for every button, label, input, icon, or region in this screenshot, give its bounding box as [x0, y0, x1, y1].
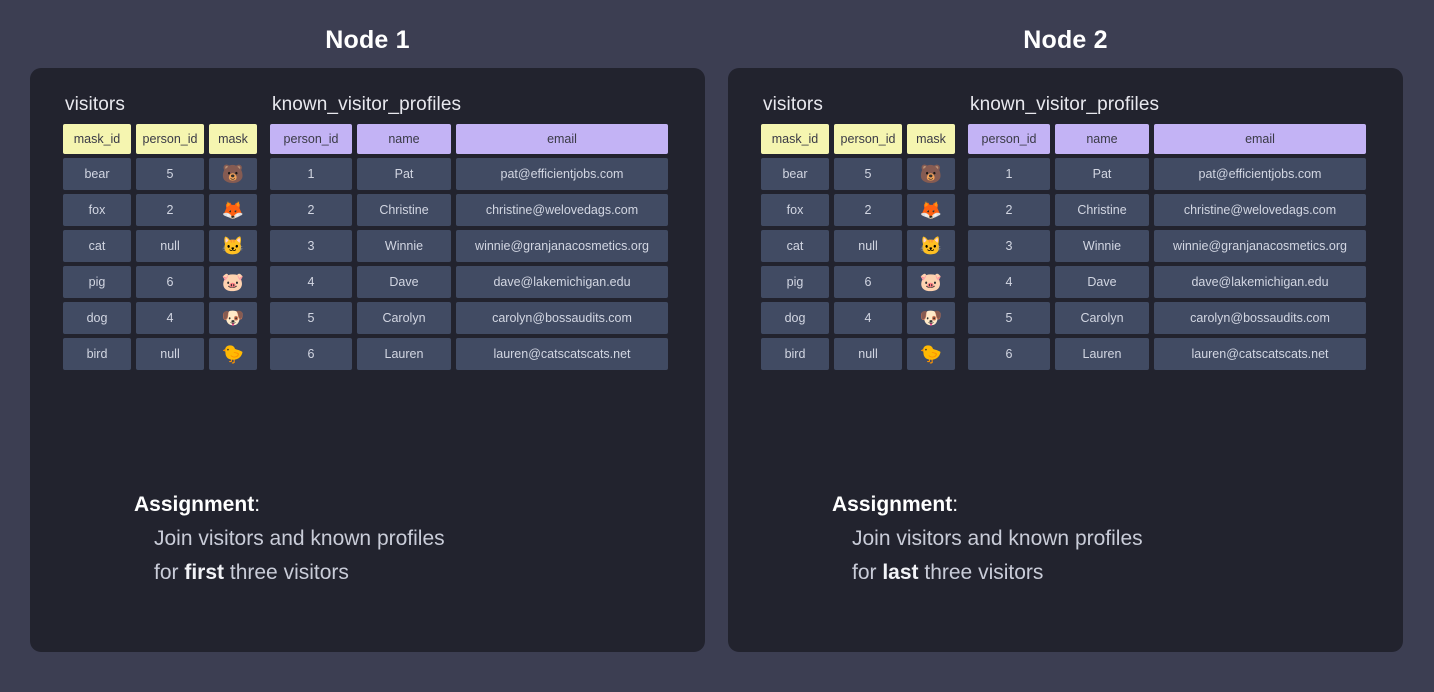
table-row: 1 Pat pat@efficientjobs.com	[968, 158, 1366, 190]
cell-name: Winnie	[1055, 230, 1149, 262]
table-row: 1 Pat pat@efficientjobs.com	[270, 158, 668, 190]
bear-face-icon: 🐻	[907, 158, 955, 190]
cell-person-id: 5	[968, 302, 1050, 334]
cat-face-icon: 🐱	[209, 230, 257, 262]
column-header-mask: mask	[907, 124, 955, 154]
table-row: 3 Winnie winnie@granjanacosmetics.org	[968, 230, 1366, 262]
cell-mask-id: pig	[63, 266, 131, 298]
assignment-line2-emphasis: last	[882, 561, 918, 584]
fox-face-icon: 🦊	[907, 194, 955, 226]
profiles-table-caption: known_visitor_profiles	[270, 94, 668, 116]
cell-mask-id: cat	[63, 230, 131, 262]
column-header-person-id: person_id	[270, 124, 352, 154]
cell-person-id: 1	[270, 158, 352, 190]
node-panel-2: Node 2 visitors mask_id person_id mask b…	[728, 0, 1403, 692]
cell-mask-id: fox	[761, 194, 829, 226]
column-header-email: email	[456, 124, 668, 154]
cell-person-id: 4	[136, 302, 204, 334]
bear-face-icon: 🐻	[209, 158, 257, 190]
cell-name: Dave	[1055, 266, 1149, 298]
assignment-block-2: Assignment: Join visitors and known prof…	[832, 488, 1143, 590]
table-row: 2 Christine christine@welovedags.com	[270, 194, 668, 226]
pig-face-icon: 🐷	[907, 266, 955, 298]
table-header-row: person_id name email	[270, 124, 668, 154]
cell-person-id: null	[834, 230, 902, 262]
cell-email: carolyn@bossaudits.com	[1154, 302, 1366, 334]
table-header-row: mask_id person_id mask	[63, 124, 257, 154]
cell-person-id: null	[834, 338, 902, 370]
column-header-mask: mask	[209, 124, 257, 154]
cell-name: Pat	[357, 158, 451, 190]
assignment-line-1: Join visitors and known profiles	[832, 522, 1143, 556]
node-panel-1: Node 1 visitors mask_id person_id mask b…	[30, 0, 705, 692]
tables-area-2: visitors mask_id person_id mask bear 5 🐻…	[761, 94, 1366, 370]
cell-email: winnie@granjanacosmetics.org	[456, 230, 668, 262]
column-header-name: name	[1055, 124, 1149, 154]
cell-mask-id: bird	[761, 338, 829, 370]
dog-face-icon: 🐶	[209, 302, 257, 334]
cell-email: pat@efficientjobs.com	[456, 158, 668, 190]
cell-email: christine@welovedags.com	[1154, 194, 1366, 226]
table-row: bear 5 🐻	[63, 158, 257, 190]
table-row: bear 5 🐻	[761, 158, 955, 190]
cell-name: Pat	[1055, 158, 1149, 190]
visitors-table-1: visitors mask_id person_id mask bear 5 🐻…	[63, 94, 257, 370]
table-row: 6 Lauren lauren@catscatscats.net	[270, 338, 668, 370]
assignment-line2-emphasis: first	[184, 561, 224, 584]
cell-email: winnie@granjanacosmetics.org	[1154, 230, 1366, 262]
visitors-table-2: visitors mask_id person_id mask bear 5 🐻…	[761, 94, 955, 370]
table-row: 4 Dave dave@lakemichigan.edu	[968, 266, 1366, 298]
cell-email: pat@efficientjobs.com	[1154, 158, 1366, 190]
cell-email: carolyn@bossaudits.com	[456, 302, 668, 334]
baby-chick-icon: 🐤	[209, 338, 257, 370]
table-header-row: mask_id person_id mask	[761, 124, 955, 154]
cell-person-id: 6	[270, 338, 352, 370]
profiles-table-caption: known_visitor_profiles	[968, 94, 1366, 116]
cell-name: Lauren	[357, 338, 451, 370]
cell-mask-id: pig	[761, 266, 829, 298]
column-header-mask-id: mask_id	[761, 124, 829, 154]
column-header-email: email	[1154, 124, 1366, 154]
cat-face-icon: 🐱	[907, 230, 955, 262]
column-header-person-id: person_id	[968, 124, 1050, 154]
cell-mask-id: dog	[761, 302, 829, 334]
cell-name: Carolyn	[357, 302, 451, 334]
cell-person-id: 3	[968, 230, 1050, 262]
cell-person-id: 4	[270, 266, 352, 298]
assignment-line2-suffix: three visitors	[224, 561, 349, 584]
cell-person-id: 5	[270, 302, 352, 334]
cell-person-id: 2	[270, 194, 352, 226]
known-visitor-profiles-table-1: known_visitor_profiles person_id name em…	[270, 94, 668, 370]
table-row: bird null 🐤	[761, 338, 955, 370]
assignment-line-1: Join visitors and known profiles	[134, 522, 445, 556]
table-row: 3 Winnie winnie@granjanacosmetics.org	[270, 230, 668, 262]
table-row: fox 2 🦊	[761, 194, 955, 226]
cell-person-id: 2	[968, 194, 1050, 226]
node-card-1: visitors mask_id person_id mask bear 5 🐻…	[30, 68, 705, 652]
dog-face-icon: 🐶	[907, 302, 955, 334]
cell-person-id: 1	[968, 158, 1050, 190]
assignment-heading-label: Assignment	[134, 493, 254, 516]
pig-face-icon: 🐷	[209, 266, 257, 298]
assignment-line2-prefix: for	[852, 561, 882, 584]
cell-mask-id: cat	[761, 230, 829, 262]
table-row: cat null 🐱	[63, 230, 257, 262]
assignment-heading: Assignment:	[832, 488, 1143, 522]
cell-mask-id: dog	[63, 302, 131, 334]
table-row: cat null 🐱	[761, 230, 955, 262]
column-header-name: name	[357, 124, 451, 154]
cell-email: dave@lakemichigan.edu	[456, 266, 668, 298]
cell-person-id: null	[136, 230, 204, 262]
cell-name: Dave	[357, 266, 451, 298]
cell-name: Christine	[1055, 194, 1149, 226]
assignment-heading-colon: :	[254, 493, 260, 516]
cell-mask-id: bear	[63, 158, 131, 190]
assignment-block-1: Assignment: Join visitors and known prof…	[134, 488, 445, 590]
cell-name: Winnie	[357, 230, 451, 262]
visitors-table-caption: visitors	[761, 94, 955, 116]
cell-person-id: 6	[834, 266, 902, 298]
table-row: 5 Carolyn carolyn@bossaudits.com	[968, 302, 1366, 334]
assignment-line-2: for first three visitors	[134, 556, 445, 590]
node-title-2: Node 2	[728, 0, 1403, 68]
cell-email: christine@welovedags.com	[456, 194, 668, 226]
assignment-line2-suffix: three visitors	[919, 561, 1044, 584]
table-row: 2 Christine christine@welovedags.com	[968, 194, 1366, 226]
assignment-line2-prefix: for	[154, 561, 184, 584]
table-row: dog 4 🐶	[761, 302, 955, 334]
table-row: dog 4 🐶	[63, 302, 257, 334]
cell-email: lauren@catscatscats.net	[1154, 338, 1366, 370]
table-header-row: person_id name email	[968, 124, 1366, 154]
cell-person-id: 5	[834, 158, 902, 190]
cell-person-id: 2	[834, 194, 902, 226]
cell-name: Carolyn	[1055, 302, 1149, 334]
cell-person-id: 5	[136, 158, 204, 190]
assignment-heading-colon: :	[952, 493, 958, 516]
table-row: pig 6 🐷	[761, 266, 955, 298]
cell-person-id: 4	[968, 266, 1050, 298]
table-row: bird null 🐤	[63, 338, 257, 370]
cell-email: lauren@catscatscats.net	[456, 338, 668, 370]
assignment-heading: Assignment:	[134, 488, 445, 522]
cell-mask-id: fox	[63, 194, 131, 226]
slide-canvas: Node 1 visitors mask_id person_id mask b…	[0, 0, 1434, 692]
assignment-heading-label: Assignment	[832, 493, 952, 516]
cell-person-id: 6	[968, 338, 1050, 370]
table-row: 4 Dave dave@lakemichigan.edu	[270, 266, 668, 298]
table-row: fox 2 🦊	[63, 194, 257, 226]
visitors-table-caption: visitors	[63, 94, 257, 116]
baby-chick-icon: 🐤	[907, 338, 955, 370]
assignment-line-2: for last three visitors	[832, 556, 1143, 590]
table-row: 5 Carolyn carolyn@bossaudits.com	[270, 302, 668, 334]
cell-name: Christine	[357, 194, 451, 226]
cell-name: Lauren	[1055, 338, 1149, 370]
cell-person-id: 6	[136, 266, 204, 298]
cell-mask-id: bear	[761, 158, 829, 190]
cell-person-id: 4	[834, 302, 902, 334]
node-title-1: Node 1	[30, 0, 705, 68]
node-card-2: visitors mask_id person_id mask bear 5 🐻…	[728, 68, 1403, 652]
cell-person-id: 2	[136, 194, 204, 226]
table-row: pig 6 🐷	[63, 266, 257, 298]
cell-person-id: 3	[270, 230, 352, 262]
known-visitor-profiles-table-2: known_visitor_profiles person_id name em…	[968, 94, 1366, 370]
tables-area-1: visitors mask_id person_id mask bear 5 🐻…	[63, 94, 668, 370]
column-header-person-id: person_id	[136, 124, 204, 154]
cell-person-id: null	[136, 338, 204, 370]
column-header-person-id: person_id	[834, 124, 902, 154]
fox-face-icon: 🦊	[209, 194, 257, 226]
table-row: 6 Lauren lauren@catscatscats.net	[968, 338, 1366, 370]
cell-mask-id: bird	[63, 338, 131, 370]
cell-email: dave@lakemichigan.edu	[1154, 266, 1366, 298]
column-header-mask-id: mask_id	[63, 124, 131, 154]
